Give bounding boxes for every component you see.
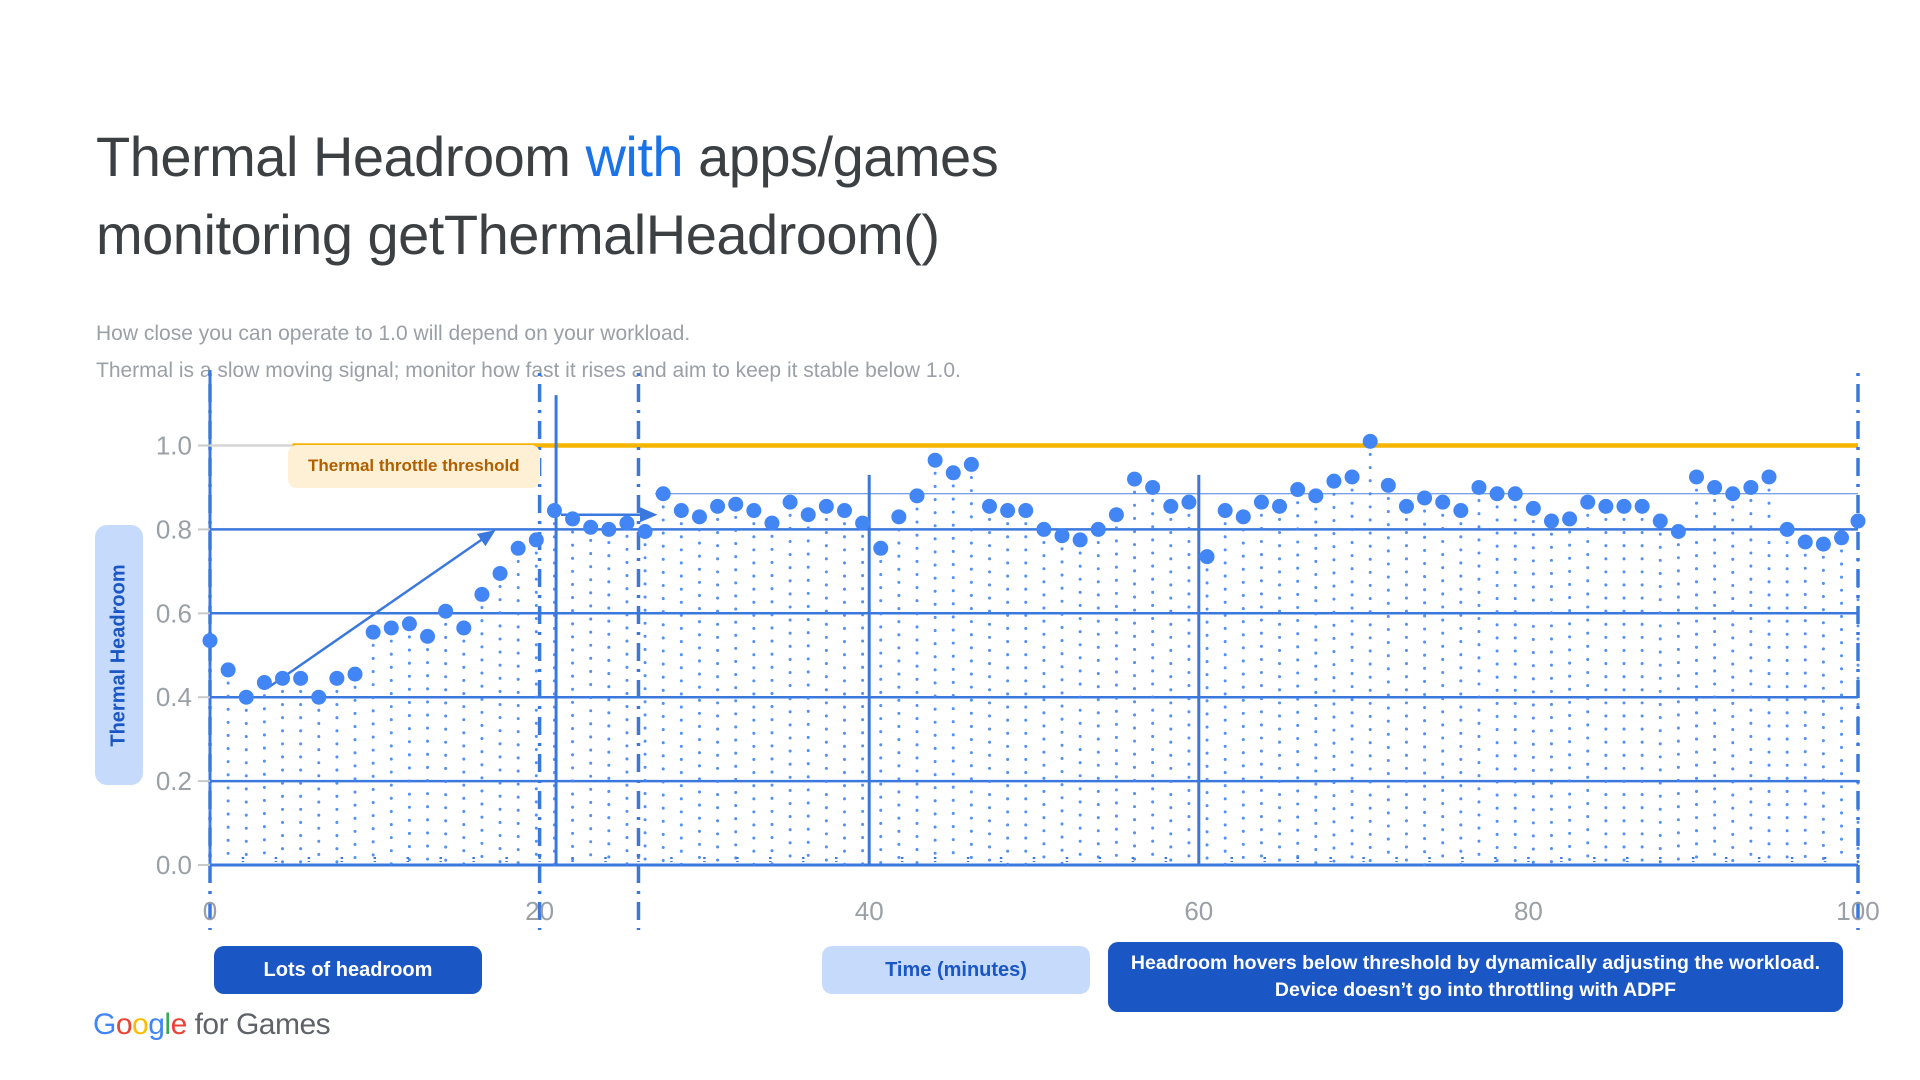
data-point (656, 486, 671, 501)
logo-suffix: for Games (187, 1008, 330, 1041)
x-tick-label: 80 (1514, 896, 1543, 926)
data-point (1363, 434, 1378, 449)
data-point (438, 604, 453, 619)
data-point (203, 633, 218, 648)
data-point (1580, 495, 1595, 510)
data-point (1399, 499, 1414, 514)
data-point (819, 499, 834, 514)
data-point (1490, 486, 1505, 501)
data-point (1834, 530, 1849, 545)
x-tick-label: 40 (855, 896, 884, 926)
data-point (1725, 486, 1740, 501)
data-point (783, 495, 798, 510)
y-tick-label: 0.4 (156, 682, 192, 712)
data-point (1000, 503, 1015, 518)
data-point (1018, 503, 1033, 518)
data-point (311, 690, 326, 705)
y-tick-label: 0.2 (156, 766, 192, 796)
data-point (474, 587, 489, 602)
data-point (1272, 499, 1287, 514)
data-point (1381, 478, 1396, 493)
data-point (1073, 532, 1088, 547)
data-point (402, 616, 417, 631)
data-point (257, 675, 272, 690)
data-point (583, 520, 598, 535)
data-point (1055, 528, 1070, 543)
logo-letter-e1: e (171, 1008, 187, 1041)
x-axis-label-badge: Time (minutes) (822, 946, 1090, 994)
data-point (366, 625, 381, 640)
title-highlight: with (585, 125, 683, 188)
x-tick-label: 0 (203, 896, 217, 926)
data-point (837, 503, 852, 518)
data-point (1109, 507, 1124, 522)
data-point (1345, 469, 1360, 484)
logo-letter-g1: G (93, 1008, 116, 1041)
data-point (1544, 514, 1559, 529)
trend-arrow-0 (269, 532, 493, 687)
data-point (638, 524, 653, 539)
y-tick-label: 0.0 (156, 850, 192, 880)
data-point (1218, 503, 1233, 518)
data-point (529, 532, 544, 547)
data-point (1236, 509, 1251, 524)
data-point (420, 629, 435, 644)
data-point (746, 503, 761, 518)
data-point (348, 667, 363, 682)
data-point (1163, 499, 1178, 514)
data-point (1254, 495, 1269, 510)
data-point (1616, 499, 1631, 514)
data-point (565, 511, 580, 526)
data-point (928, 453, 943, 468)
data-point (511, 541, 526, 556)
page-title: Thermal Headroom with apps/games monitor… (96, 118, 1396, 274)
data-point (1091, 522, 1106, 537)
title-part-1: Thermal Headroom (96, 125, 585, 188)
data-point (1290, 482, 1305, 497)
data-point (764, 516, 779, 531)
data-point (1816, 537, 1831, 552)
data-point (1653, 514, 1668, 529)
y-tick-label: 0.6 (156, 598, 192, 628)
data-point (456, 620, 471, 635)
data-point (1200, 549, 1215, 564)
data-point (1635, 499, 1650, 514)
logo-letter-o2: o (132, 1008, 148, 1041)
data-point (1127, 472, 1142, 487)
data-point (710, 499, 725, 514)
data-point (1707, 480, 1722, 495)
y-tick-label: 0.8 (156, 514, 192, 544)
data-point (1508, 486, 1523, 501)
subtitle-line-1: How close you can operate to 1.0 will de… (96, 315, 1396, 352)
data-point (891, 509, 906, 524)
data-point (384, 620, 399, 635)
data-point (1181, 495, 1196, 510)
y-axis-label-text: Thermal Headroom (108, 564, 131, 746)
data-point (855, 516, 870, 531)
data-point (1562, 511, 1577, 526)
data-point (1743, 480, 1758, 495)
data-point (293, 671, 308, 686)
data-point (801, 507, 816, 522)
y-axis-label-badge: Thermal Headroom (95, 525, 143, 785)
data-point (619, 516, 634, 531)
data-point (1798, 534, 1813, 549)
data-point (329, 671, 344, 686)
data-point (1689, 469, 1704, 484)
x-tick-label: 100 (1836, 896, 1879, 926)
x-tick-label: 60 (1184, 896, 1213, 926)
data-point (275, 671, 290, 686)
data-point (909, 488, 924, 503)
callout-lots-of-headroom: Lots of headroom (214, 946, 482, 994)
data-point (1036, 522, 1051, 537)
data-point (1435, 495, 1450, 510)
data-point (1308, 488, 1323, 503)
data-point (1453, 503, 1468, 518)
data-point (873, 541, 888, 556)
data-point (1471, 480, 1486, 495)
data-point (1417, 490, 1432, 505)
google-for-games-logo: Google for Games (93, 1008, 330, 1042)
callout-headroom-hovers: Headroom hovers below threshold by dynam… (1108, 942, 1843, 1012)
title-part-2: apps/games (683, 125, 998, 188)
x-tick-label: 20 (525, 896, 554, 926)
data-point (239, 690, 254, 705)
data-point (964, 457, 979, 472)
data-point (221, 662, 236, 677)
data-point (728, 497, 743, 512)
data-point (1526, 501, 1541, 516)
thermal-throttle-threshold-label: Thermal throttle threshold (288, 445, 540, 488)
data-point (692, 509, 707, 524)
data-point (1780, 522, 1795, 537)
data-point (1851, 514, 1866, 529)
data-point (1671, 524, 1686, 539)
data-point (946, 465, 961, 480)
data-point (1762, 469, 1777, 484)
data-point (982, 499, 997, 514)
data-point (674, 503, 689, 518)
data-point (493, 566, 508, 581)
slide-root: Thermal Headroom with apps/games monitor… (0, 0, 1920, 1080)
data-point (1598, 499, 1613, 514)
logo-letter-g2: g (148, 1008, 164, 1041)
data-point (1326, 474, 1341, 489)
y-tick-label: 1.0 (156, 431, 192, 461)
data-point (1145, 480, 1160, 495)
data-point (601, 522, 616, 537)
logo-letter-o1: o (116, 1008, 132, 1041)
data-point (547, 503, 562, 518)
title-line-2: monitoring getThermalHeadroom() (96, 203, 940, 266)
